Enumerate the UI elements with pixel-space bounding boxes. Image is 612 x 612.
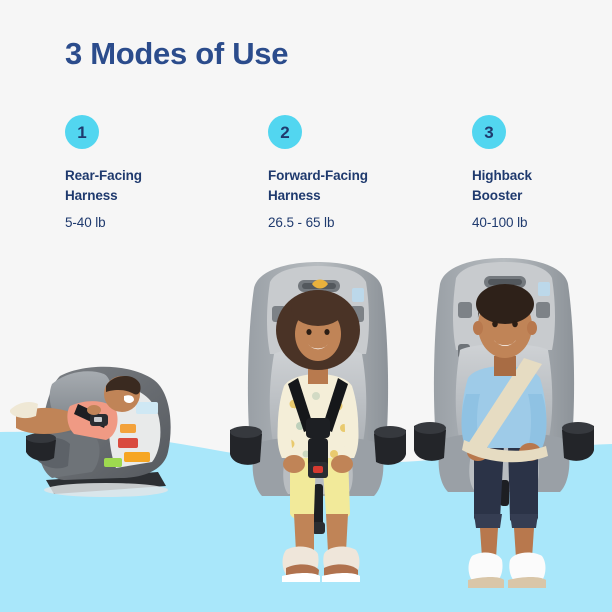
mode-column-highback-booster: 3 Highback Booster 40-100 lb <box>472 115 602 230</box>
mode-label-1-line1: Rear-Facing <box>65 166 245 186</box>
mode-label-3-line1: Highback <box>472 166 602 186</box>
mode-badge-1: 1 <box>65 115 99 149</box>
mode-label-2: Forward-Facing Harness <box>268 166 448 205</box>
highback-booster-photo <box>412 252 597 600</box>
mode-weight-range-2: 26.5 - 65 lb <box>268 215 448 230</box>
mode-weight-range-1: 5-40 lb <box>65 215 245 230</box>
mode-label-2-line2: Harness <box>268 186 448 206</box>
rear-facing-car-seat-photo <box>8 340 213 505</box>
page-title: 3 Modes of Use <box>65 36 288 72</box>
mode-column-forward-facing: 2 Forward-Facing Harness 26.5 - 65 lb <box>268 115 448 230</box>
mode-label-1: Rear-Facing Harness <box>65 166 245 205</box>
mode-badge-2: 2 <box>268 115 302 149</box>
product-photo-stage <box>0 240 612 612</box>
mode-column-rear-facing: 1 Rear-Facing Harness 5-40 lb <box>65 115 245 230</box>
mode-label-2-line1: Forward-Facing <box>268 166 448 186</box>
mode-badge-3: 3 <box>472 115 506 149</box>
forward-facing-car-seat-photo <box>228 258 408 598</box>
infographic-root: 3 Modes of Use 1 Rear-Facing Harness 5-4… <box>0 0 612 612</box>
mode-label-3-line2: Booster <box>472 186 602 206</box>
mode-label-1-line2: Harness <box>65 186 245 206</box>
mode-label-3: Highback Booster <box>472 166 602 205</box>
mode-weight-range-3: 40-100 lb <box>472 215 602 230</box>
